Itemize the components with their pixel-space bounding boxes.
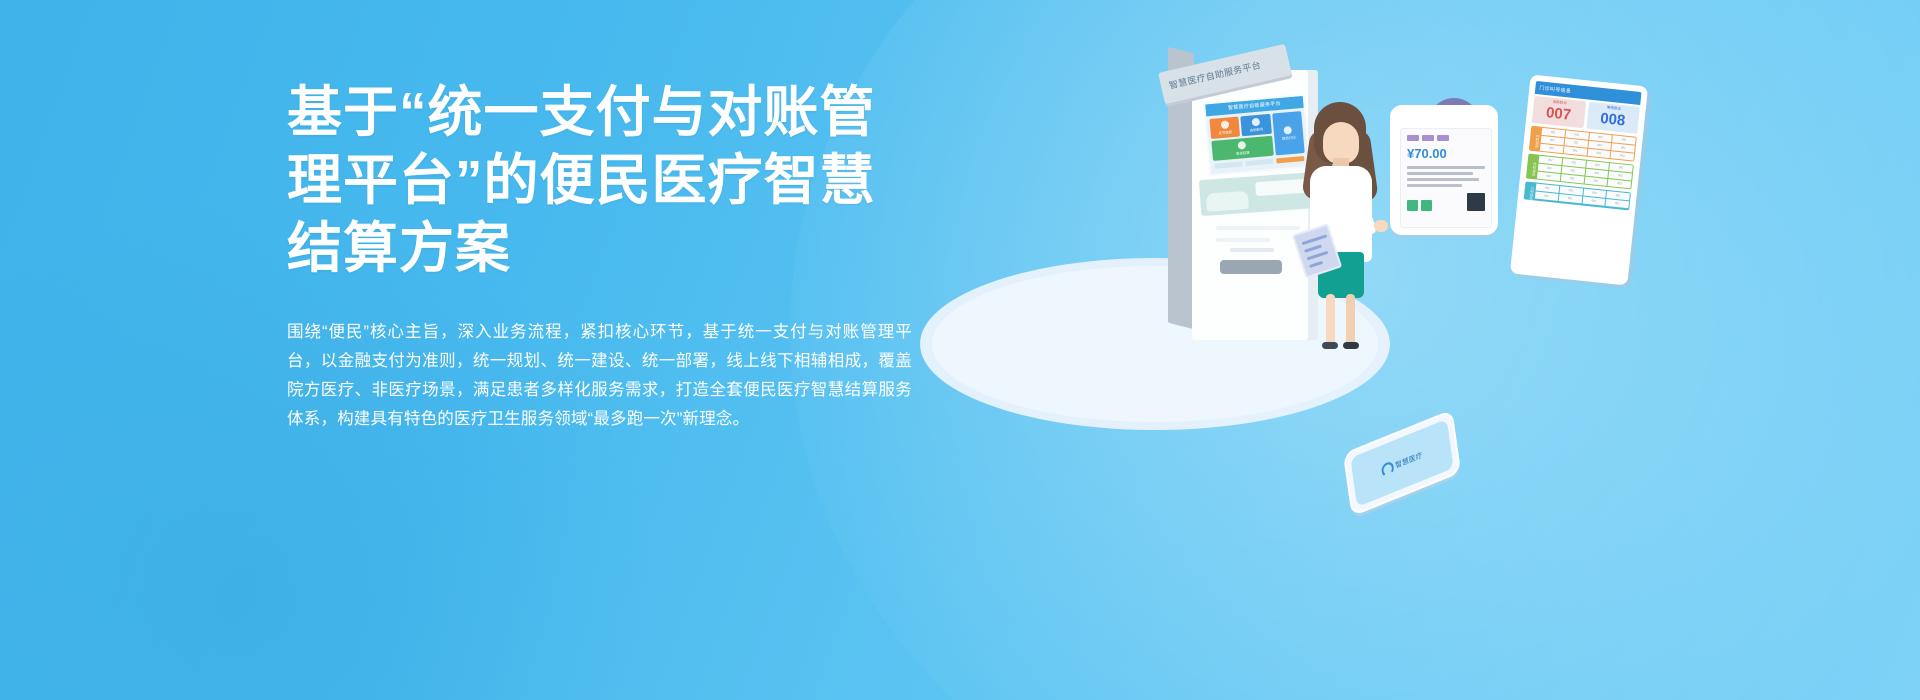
doctor-shoe-right bbox=[1343, 342, 1359, 349]
clipboard-line bbox=[1307, 251, 1329, 261]
plus-icon bbox=[1220, 120, 1229, 129]
kiosk-tile-label: 医保结算 bbox=[1236, 150, 1250, 156]
page-title-line-2: 理平台”的便民医疗智慧 bbox=[287, 146, 912, 214]
queue-number-current: 当前就诊 007 bbox=[1532, 96, 1586, 128]
receipt-chip bbox=[1437, 135, 1449, 141]
doctor-leg-right bbox=[1346, 294, 1355, 346]
queue-cell: 001 bbox=[1540, 144, 1563, 153]
receipt-line bbox=[1407, 184, 1462, 187]
kiosk-tile-insurance: 医保结算 bbox=[1211, 136, 1273, 161]
kiosk-tile-label: 自助取号 bbox=[1250, 126, 1264, 132]
queue-cell: 001 bbox=[1537, 172, 1560, 181]
receipt-amount: ¥70.00 bbox=[1407, 146, 1485, 161]
receipt-chip bbox=[1422, 135, 1434, 141]
hero-illustration: 智慧医疗自助服务平台 智慧医疗自助服务平台 挂号缴费 自助取号 报告打印 bbox=[900, 10, 1920, 700]
banner-copy-block: 基于“统一支付与对账管 理平台”的便民医疗智慧 结算方案 围绕“便民”核心主旨，… bbox=[287, 78, 912, 434]
receipt-chip-row bbox=[1407, 135, 1485, 141]
receipt-line bbox=[1407, 166, 1485, 169]
receipt-chip bbox=[1407, 135, 1419, 141]
queue-cell: 001 bbox=[1558, 194, 1581, 203]
page-title-line-3: 结算方案 bbox=[287, 214, 912, 282]
queue-cell: 001 bbox=[1584, 177, 1607, 186]
receipt-display: ¥70.00 bbox=[1400, 128, 1492, 228]
receipt-footer bbox=[1407, 193, 1485, 211]
receipt-status-square bbox=[1407, 200, 1418, 211]
receipt-line bbox=[1407, 172, 1473, 175]
queue-cell: 001 bbox=[1563, 146, 1586, 155]
receipt-line bbox=[1407, 178, 1479, 181]
kiosk-footer-bar bbox=[1214, 161, 1242, 168]
kiosk-tile-label: 挂号缴费 bbox=[1218, 129, 1232, 135]
doctor-shoe-left bbox=[1322, 342, 1338, 349]
doctor-hand bbox=[1374, 220, 1388, 232]
app-label-text: 智慧医疗 bbox=[1395, 452, 1423, 470]
page-title: 基于“统一支付与对账管 理平台”的便民医疗智慧 结算方案 bbox=[287, 78, 912, 282]
mobile-phone: 智慧医疗 bbox=[1343, 409, 1461, 516]
queue-number-next: 等待就诊 008 bbox=[1586, 102, 1640, 134]
doctor-leg-left bbox=[1326, 294, 1335, 346]
clipboard-line bbox=[1302, 234, 1328, 245]
kiosk-tray-pad bbox=[1206, 191, 1249, 212]
queue-cell: 001 bbox=[1608, 179, 1631, 188]
kiosk-footer-bar bbox=[1245, 159, 1273, 166]
queue-cell: 001 bbox=[1535, 192, 1558, 201]
doctor-character bbox=[1290, 102, 1400, 352]
kiosk-tile-queue-number: 自助取号 bbox=[1241, 114, 1272, 136]
clipboard-line bbox=[1304, 244, 1322, 252]
card-icon bbox=[1238, 141, 1247, 150]
kiosk-receipt-slot bbox=[1220, 260, 1282, 274]
phone-app-label: 智慧医疗 bbox=[1381, 448, 1424, 478]
kiosk-panel-line bbox=[1216, 226, 1300, 230]
kiosk-panel-line bbox=[1216, 238, 1270, 242]
banner-description: 围绕“便民”核心主旨，深入业务流程，紧扣核心环节，基于统一支付与对账管理平台，以… bbox=[287, 318, 912, 434]
queue-cell: 001 bbox=[1582, 197, 1605, 206]
page-title-line-1: 基于“统一支付与对账管 bbox=[287, 78, 912, 146]
kiosk-panel-line bbox=[1230, 248, 1274, 252]
queue-cell: 001 bbox=[1606, 199, 1629, 208]
phone-screen: 智慧医疗 bbox=[1350, 419, 1453, 507]
queue-cell: 001 bbox=[1561, 174, 1584, 183]
queue-display-board: 门诊叫号信息 当前就诊 007 等待就诊 008 内科诊区 001 001 00… bbox=[1510, 74, 1648, 285]
queue-cell: 001 bbox=[1611, 151, 1634, 160]
user-icon bbox=[1252, 118, 1261, 127]
hero-banner: 基于“统一支付与对账管 理平台”的便民医疗智慧 结算方案 围绕“便民”核心主旨，… bbox=[0, 0, 1920, 700]
clipboard-line bbox=[1309, 261, 1323, 268]
queue-cell: 001 bbox=[1587, 149, 1610, 158]
receipt-status-square bbox=[1421, 200, 1432, 211]
app-logo-icon bbox=[1381, 460, 1395, 478]
kiosk-tile-registration: 挂号缴费 bbox=[1209, 117, 1240, 139]
qr-code-icon bbox=[1467, 193, 1485, 211]
